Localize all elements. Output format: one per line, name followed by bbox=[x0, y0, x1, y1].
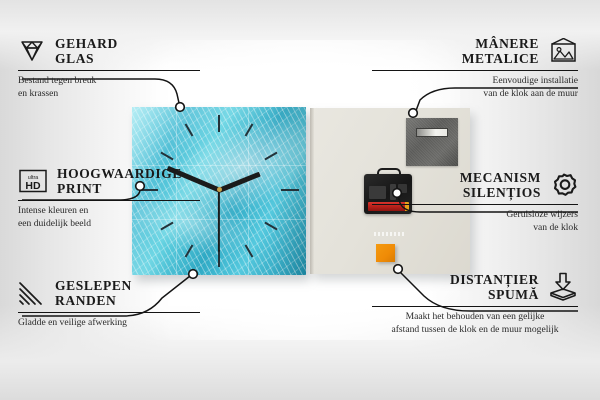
callout-rule bbox=[18, 312, 200, 313]
callout-rule bbox=[372, 204, 578, 205]
callout-sub-line1: Maakt het behouden van een gelijke bbox=[372, 311, 578, 324]
callout-header: DISTANȚIER SPUMĂ bbox=[372, 272, 578, 302]
callout-rule bbox=[372, 70, 578, 71]
connector-dot-gehard-glas bbox=[176, 103, 185, 112]
callout-sub-line2: van de klok aan de muur bbox=[372, 88, 578, 101]
callout-mecanism-silentios: MECANISM SILENȚIOS Geruisloze wijzers va… bbox=[372, 170, 578, 234]
connector-dot-manere-metalice bbox=[409, 109, 418, 118]
callout-header: GESLEPEN RANDEN bbox=[18, 278, 228, 308]
callout-rule bbox=[18, 200, 200, 201]
callout-title-line1: HOOGWAARDIGE bbox=[57, 166, 182, 181]
callout-title-line2: SPUMĂ bbox=[450, 287, 539, 302]
ultra-hd-icon-bottom-text: HD bbox=[25, 180, 41, 192]
callout-title-line1: GESLEPEN bbox=[55, 278, 132, 293]
callout-rule bbox=[372, 306, 578, 307]
callout-title-line2: PRINT bbox=[57, 181, 182, 196]
callout-sub-line2: van de klok bbox=[372, 222, 578, 235]
callout-title-line1: GEHARD bbox=[55, 36, 118, 51]
callout-title-line2: METALICE bbox=[462, 51, 539, 66]
callout-sub-line2: een duidelijk beeld bbox=[18, 218, 228, 231]
callout-sub-line1: Bestand tegen breuk bbox=[18, 75, 218, 88]
callout-sub-line2: afstand tussen de klok en de muur mogeli… bbox=[372, 324, 578, 337]
callout-title-line2: RANDEN bbox=[55, 293, 132, 308]
callout-header: MÂNERE METALICE bbox=[372, 36, 578, 66]
spacer-layers-icon bbox=[548, 272, 578, 302]
callout-header: ultra HD HOOGWAARDIGE PRINT bbox=[18, 166, 228, 196]
ultra-hd-icon: ultra HD bbox=[18, 168, 48, 194]
infographic-canvas: GEHARD GLAS Bestand tegen breuk en krass… bbox=[0, 0, 600, 400]
bevelled-edges-icon bbox=[18, 280, 46, 306]
callout-sub-line2: en krassen bbox=[18, 88, 218, 101]
callout-title-line1: MÂNERE bbox=[462, 36, 539, 51]
callout-title-line2: GLAS bbox=[55, 51, 118, 66]
callout-sub-line1: Geruisloze wijzers bbox=[372, 209, 578, 222]
callout-title-line2: SILENȚIOS bbox=[460, 185, 541, 200]
callout-header: GEHARD GLAS bbox=[18, 36, 218, 66]
callout-geslepen-randen: GESLEPEN RANDEN Gladde en veilige afwerk… bbox=[18, 278, 228, 330]
callout-hoogwaardige-print: ultra HD HOOGWAARDIGE PRINT Intense kleu… bbox=[18, 166, 228, 230]
callout-title-line1: DISTANȚIER bbox=[450, 272, 539, 287]
callout-gehard-glas: GEHARD GLAS Bestand tegen breuk en krass… bbox=[18, 36, 218, 100]
callout-distantier-spuma: DISTANȚIER SPUMĂ Maakt het behouden van … bbox=[372, 272, 578, 336]
callout-sub-line1: Eenvoudige installatie bbox=[372, 75, 578, 88]
diamond-icon bbox=[18, 38, 46, 64]
picture-frame-icon bbox=[548, 38, 578, 64]
callout-manere-metalice: MÂNERE METALICE Eenvoudige installatie v… bbox=[372, 36, 578, 100]
gear-icon bbox=[550, 172, 578, 199]
callout-rule bbox=[18, 70, 200, 71]
callout-sub-line1: Gladde en veilige afwerking bbox=[18, 317, 228, 330]
connector-dot-geslepen-randen bbox=[189, 270, 198, 279]
callout-sub-line1: Intense kleuren en bbox=[18, 205, 228, 218]
callout-title-line1: MECANISM bbox=[460, 170, 541, 185]
callout-header: MECANISM SILENȚIOS bbox=[372, 170, 578, 200]
